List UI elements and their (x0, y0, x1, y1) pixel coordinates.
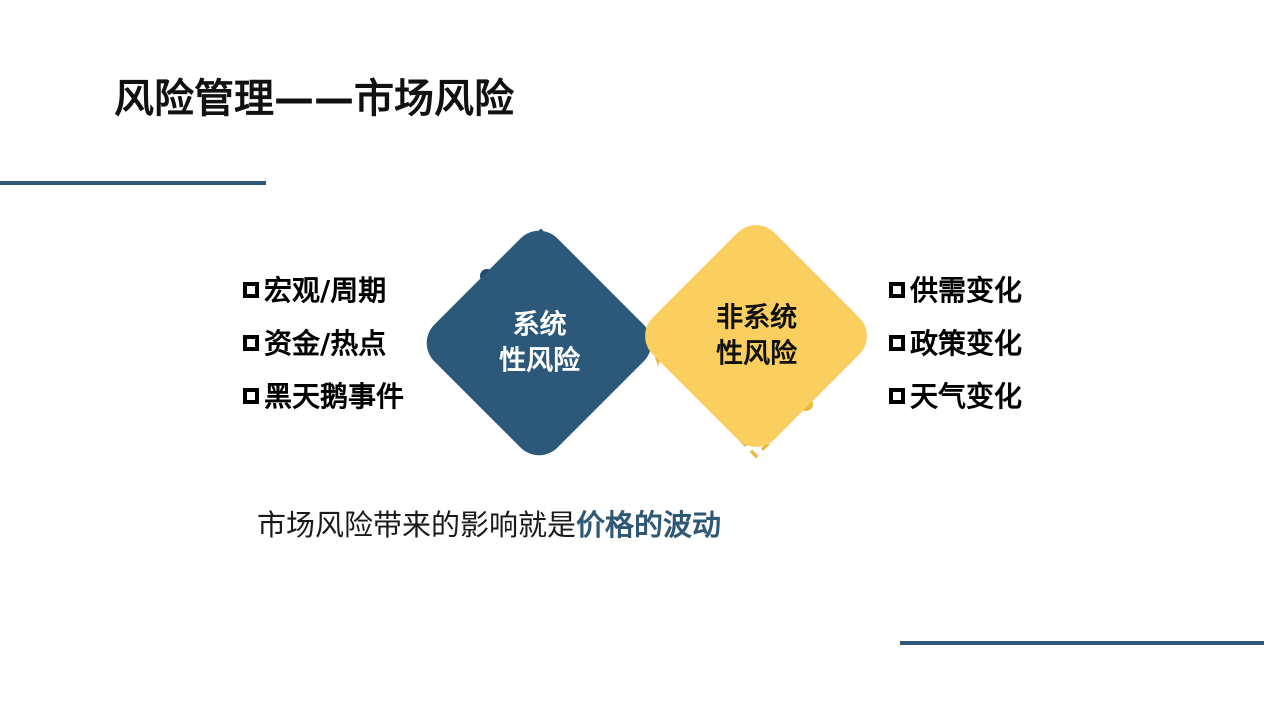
bullet-list-right: 供需变化 政策变化 天气变化 (889, 277, 1022, 411)
summary-caption: 市场风险带来的影响就是价格的波动 (257, 508, 721, 543)
hollow-square-icon (243, 388, 259, 404)
diamond-unsystemic-risk[interactable]: 非系统 性风险 (634, 214, 877, 457)
list-item: 天气变化 (889, 383, 1022, 411)
hollow-square-icon (889, 388, 905, 404)
title-underline-rule (0, 181, 266, 185)
diamond-unsystemic-risk-label: 非系统 性风险 (716, 300, 797, 371)
list-item: 宏观/周期 (243, 277, 404, 305)
list-item-label: 供需变化 (910, 277, 1022, 305)
list-item-label: 天气变化 (910, 383, 1022, 411)
list-item: 供需变化 (889, 277, 1022, 305)
list-item: 黑天鹅事件 (243, 383, 404, 411)
slide-canvas: 风险管理——市场风险 宏观/周期 资金/热点 黑天鹅事件 供需变化 政策变化 天… (0, 0, 1280, 720)
footer-rule (900, 641, 1264, 645)
list-item: 资金/热点 (243, 330, 404, 358)
list-item-label: 宏观/周期 (264, 277, 386, 305)
hollow-square-icon (889, 335, 905, 351)
list-item-label: 资金/热点 (264, 330, 386, 358)
page-title: 风险管理——市场风险 (114, 76, 514, 122)
diamond-systemic-risk-label: 系统 性风险 (499, 307, 580, 378)
list-item-label: 政策变化 (910, 330, 1022, 358)
diamond-systemic-risk[interactable]: 系统 性风险 (416, 220, 662, 466)
summary-caption-accent: 价格的波动 (576, 508, 721, 542)
list-item-label: 黑天鹅事件 (264, 383, 404, 411)
hollow-square-icon (889, 282, 905, 298)
summary-caption-lead: 市场风险带来的影响就是 (257, 508, 576, 542)
bullet-list-left: 宏观/周期 资金/热点 黑天鹅事件 (243, 277, 404, 411)
list-item: 政策变化 (889, 330, 1022, 358)
hollow-square-icon (243, 282, 259, 298)
hollow-square-icon (243, 335, 259, 351)
